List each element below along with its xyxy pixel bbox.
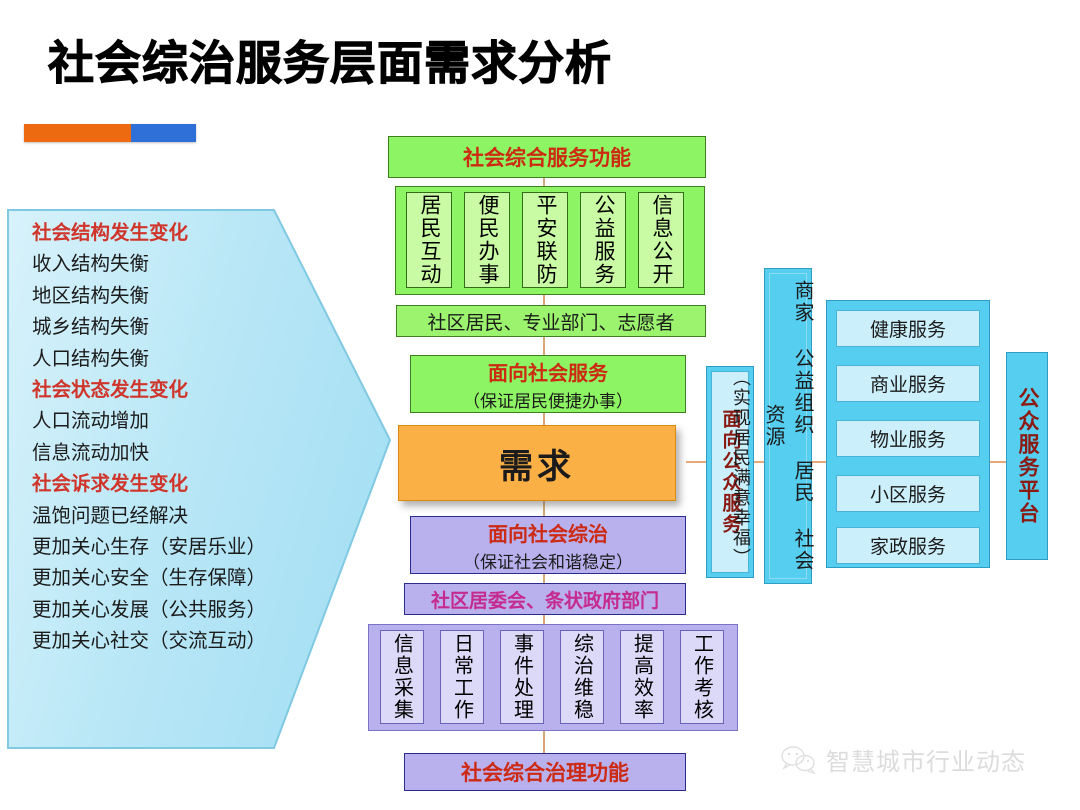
wechat-icon: [780, 745, 816, 775]
left-arrow-text: 社会结构发生变化 收入结构失衡 地区结构失衡 城乡结构失衡 人口结构失衡 社会状…: [32, 218, 322, 658]
facing-society-subtitle: （保证居民便捷办事）: [463, 387, 633, 412]
resources-label: 商家 公益组织 居民 社会资源: [759, 274, 817, 578]
service-function-label: 公益服务: [588, 194, 618, 286]
governance-footer-label: 社会综合治理功能: [461, 757, 629, 787]
arrow-line: 更加关心社交（交流互动）: [32, 626, 322, 657]
core-demand-box[interactable]: 需求: [398, 425, 676, 501]
core-demand-label: 需求: [499, 439, 575, 488]
service-item-label: 物业服务: [870, 425, 946, 452]
service-function-label: 便民办事: [472, 194, 502, 286]
governance-footer: 社会综合治理功能: [404, 753, 686, 791]
service-function-label: 信息公开: [646, 194, 676, 286]
arrow-line: 信息流动加快: [32, 438, 322, 469]
arrow-line: 人口结构失衡: [32, 344, 322, 375]
governance-function-label: 提高效率: [628, 633, 657, 721]
facing-governance-title: 面向社会综治: [488, 518, 608, 547]
service-function-item[interactable]: 信息公开: [638, 192, 684, 288]
service-item-label: 家政服务: [870, 532, 946, 559]
governance-function-label: 事件处理: [508, 633, 537, 721]
governance-function-item[interactable]: 事件处理: [500, 630, 544, 724]
public-service-note: （实现居民满意幸福）: [706, 368, 754, 576]
arrow-line: 更加关心安全（生存保障）: [32, 563, 322, 594]
service-item-label: 健康服务: [870, 315, 946, 342]
service-function-item[interactable]: 平安联防: [522, 192, 568, 288]
arrow-line: 社会结构发生变化: [32, 218, 322, 249]
governance-function-item[interactable]: 提高效率: [620, 630, 664, 724]
facing-governance-subtitle: （保证社会和谐稳定）: [463, 548, 633, 573]
governance-function-item[interactable]: 信息采集: [380, 630, 424, 724]
service-item[interactable]: 健康服务: [836, 310, 980, 347]
decoration-segment-orange: [24, 124, 131, 142]
service-actors-label: 社区居民、专业部门、志愿者: [427, 308, 674, 335]
service-function-header: 社会综合服务功能: [388, 136, 706, 178]
service-item-label: 小区服务: [870, 480, 946, 507]
facing-society-service-box: 面向社会服务 （保证居民便捷办事）: [410, 355, 686, 413]
governance-function-label: 综治维稳: [568, 633, 597, 721]
governance-actors-strip: 社区居委会、条状政府部门: [404, 583, 686, 615]
watermark-label: 智慧城市行业动态: [826, 742, 1026, 777]
governance-actors-label: 社区居委会、条状政府部门: [431, 586, 659, 613]
arrow-line: 城乡结构失衡: [32, 312, 322, 343]
governance-function-label: 工作考核: [688, 633, 717, 721]
page-title: 社会综治服务层面需求分析: [48, 40, 612, 86]
diagram-canvas: 社会综治服务层面需求分析 社会结构发生变化 收入结构失衡 地区结构失衡 城乡结构…: [0, 0, 1080, 810]
title-decoration-bar: [24, 124, 196, 142]
governance-function-item[interactable]: 工作考核: [680, 630, 724, 724]
arrow-line: 更加关心发展（公共服务）: [32, 595, 322, 626]
facing-society-title: 面向社会服务: [488, 357, 608, 386]
service-item[interactable]: 小区服务: [836, 475, 980, 512]
service-function-item[interactable]: 公益服务: [580, 192, 626, 288]
resources-inner-box[interactable]: 商家 公益组织 居民 社会资源: [769, 273, 807, 579]
service-function-header-label: 社会综合服务功能: [463, 142, 631, 172]
facing-governance-box: 面向社会综治 （保证社会和谐稳定）: [410, 516, 686, 574]
governance-function-item[interactable]: 日常工作: [440, 630, 484, 724]
arrow-line: 社会状态发生变化: [32, 375, 322, 406]
arrow-line: 社会诉求发生变化: [32, 469, 322, 500]
decoration-segment-blue: [131, 124, 196, 142]
service-item[interactable]: 物业服务: [836, 420, 980, 457]
watermark: 智慧城市行业动态: [780, 742, 1026, 777]
platform-label: 公众服务平台: [1012, 387, 1042, 525]
arrow-line: 收入结构失衡: [32, 249, 322, 280]
service-actors-strip: 社区居民、专业部门、志愿者: [396, 305, 706, 337]
arrow-line: 更加关心生存（安居乐业）: [32, 532, 322, 563]
arrow-line: 温饱问题已经解决: [32, 501, 322, 532]
arrow-line: 人口流动增加: [32, 406, 322, 437]
arrow-line: 地区结构失衡: [32, 281, 322, 312]
service-item-label: 商业服务: [870, 370, 946, 397]
governance-function-label: 信息采集: [388, 633, 417, 721]
governance-function-item[interactable]: 综治维稳: [560, 630, 604, 724]
public-service-note-label: （实现居民满意幸福）: [728, 368, 754, 568]
service-function-item[interactable]: 居民互动: [406, 192, 452, 288]
governance-function-label: 日常工作: [448, 633, 477, 721]
service-item[interactable]: 家政服务: [836, 527, 980, 564]
service-function-item[interactable]: 便民办事: [464, 192, 510, 288]
service-item[interactable]: 商业服务: [836, 365, 980, 402]
service-function-label: 平安联防: [530, 194, 560, 286]
service-function-label: 居民互动: [414, 194, 444, 286]
public-service-platform-box[interactable]: 公众服务平台: [1006, 352, 1048, 560]
